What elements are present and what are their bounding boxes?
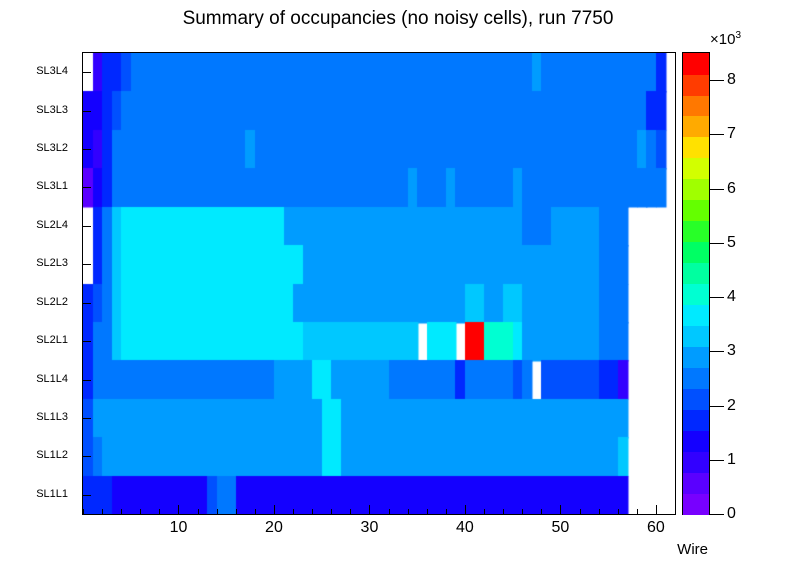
colorbar-tick-label-8: 8 [727, 71, 736, 89]
x-tick-label-10: 10 [170, 519, 188, 537]
x-tick-minor [121, 509, 122, 514]
y-axis: SL3L4SL3L3SL3L2SL3L1SL2L4SL2L3SL2L2SL2L1… [0, 52, 78, 515]
colorbar-band [683, 284, 709, 306]
colorbar-tick-label-0: 0 [727, 505, 736, 523]
page-title: Summary of occupancies (no noisy cells),… [0, 8, 796, 30]
colorbar-tick [710, 351, 724, 352]
x-tick-minor [389, 509, 390, 514]
colorbar-band [683, 53, 709, 75]
y-tick-label-sl1l3: SL1L3 [36, 411, 68, 423]
colorbar-band [683, 493, 709, 515]
color-scale: ×103 012345678 [682, 52, 794, 515]
colorbar-band [683, 430, 709, 452]
colorbar-band [683, 367, 709, 389]
x-tick-minor [427, 509, 428, 514]
colorbar-band [683, 116, 709, 138]
colorbar-tick [710, 460, 724, 461]
y-tick-label-sl2l4: SL2L4 [36, 219, 68, 231]
colorbar-tick-label-1: 1 [727, 451, 736, 469]
colorbar-tick [710, 134, 724, 135]
colorbar-band [683, 263, 709, 285]
y-tick-mark [82, 456, 91, 457]
x-tick-major [560, 505, 561, 514]
x-tick-major [369, 505, 370, 514]
x-tick-minor [484, 509, 485, 514]
x-tick-label-40: 40 [456, 519, 474, 537]
x-tick-minor [580, 509, 581, 514]
y-tick-label-sl2l2: SL2L2 [36, 296, 68, 308]
x-tick-minor [159, 509, 160, 514]
x-tick-minor [408, 509, 409, 514]
colorbar-band [683, 137, 709, 159]
colorbar-band [683, 388, 709, 410]
x-tick-minor [675, 509, 676, 514]
colorbar-tick [710, 514, 724, 515]
x-tick-minor [331, 509, 332, 514]
colorbar-tick-label-3: 3 [727, 342, 736, 360]
colorbar-tick-label-7: 7 [727, 125, 736, 143]
x-tick-major [656, 505, 657, 514]
x-tick-major [274, 505, 275, 514]
y-tick-mark [82, 149, 91, 150]
x-tick-minor [83, 509, 84, 514]
x-tick-minor [599, 509, 600, 514]
colorbar-gradient [682, 52, 710, 515]
colorbar-tick [710, 406, 724, 407]
x-tick-minor [198, 509, 199, 514]
colorbar-band [683, 95, 709, 117]
x-tick-major [465, 505, 466, 514]
x-tick-minor [102, 509, 103, 514]
y-tick-mark [82, 495, 91, 496]
y-tick-mark [82, 341, 91, 342]
colorbar-band [683, 221, 709, 243]
x-tick-label-60: 60 [647, 519, 665, 537]
x-tick-minor [293, 509, 294, 514]
x-tick-minor [503, 509, 504, 514]
x-tick-minor [350, 509, 351, 514]
colorbar-band [683, 179, 709, 201]
x-tick-minor [541, 509, 542, 514]
colorbar-tick-label-5: 5 [727, 234, 736, 252]
x-tick-minor [217, 509, 218, 514]
x-tick-label-20: 20 [265, 519, 283, 537]
colorbar-tick [710, 243, 724, 244]
y-tick-mark [82, 264, 91, 265]
y-tick-label-sl3l1: SL3L1 [36, 180, 68, 192]
x-tick-major [178, 505, 179, 514]
x-tick-minor [312, 509, 313, 514]
y-tick-label-sl3l4: SL3L4 [36, 65, 68, 77]
colorbar-band [683, 74, 709, 96]
y-tick-label-sl3l3: SL3L3 [36, 104, 68, 116]
heatmap-canvas [83, 53, 675, 514]
y-tick-label-sl3l2: SL3L2 [36, 142, 68, 154]
x-tick-minor [236, 509, 237, 514]
y-tick-mark [82, 418, 91, 419]
colorbar-tick-label-4: 4 [727, 288, 736, 306]
x-tick-label-30: 30 [361, 519, 379, 537]
y-tick-mark [82, 226, 91, 227]
x-tick-minor [255, 509, 256, 514]
colorbar-band [683, 200, 709, 222]
colorbar-tick [710, 80, 724, 81]
x-tick-label-50: 50 [552, 519, 570, 537]
root-canvas: Summary of occupancies (no noisy cells),… [0, 0, 796, 572]
colorbar-band [683, 409, 709, 431]
colorbar-tick [710, 189, 724, 190]
y-tick-label-sl1l4: SL1L4 [36, 373, 68, 385]
y-tick-mark [82, 380, 91, 381]
y-tick-mark [82, 111, 91, 112]
plot-area [82, 52, 676, 515]
x-axis-title: Wire [677, 541, 708, 558]
y-tick-label-sl1l2: SL1L2 [36, 449, 68, 461]
y-tick-mark [82, 72, 91, 73]
colorbar-band [683, 472, 709, 494]
colorbar-band [683, 158, 709, 180]
colorbar-band [683, 242, 709, 264]
x-tick-minor [446, 509, 447, 514]
colorbar-band [683, 325, 709, 347]
colorbar-exponent-label: ×103 [710, 30, 741, 48]
y-tick-mark [82, 187, 91, 188]
x-tick-minor [140, 509, 141, 514]
x-tick-minor [618, 509, 619, 514]
x-tick-minor [637, 509, 638, 514]
colorbar-band [683, 346, 709, 368]
y-tick-label-sl1l1: SL1L1 [36, 488, 68, 500]
colorbar-band [683, 304, 709, 326]
colorbar-tick-label-2: 2 [727, 397, 736, 415]
y-tick-mark [82, 303, 91, 304]
y-tick-label-sl2l3: SL2L3 [36, 257, 68, 269]
colorbar-band [683, 451, 709, 473]
x-tick-minor [522, 509, 523, 514]
colorbar-tick-label-6: 6 [727, 180, 736, 198]
y-tick-label-sl2l1: SL2L1 [36, 334, 68, 346]
colorbar-tick [710, 297, 724, 298]
